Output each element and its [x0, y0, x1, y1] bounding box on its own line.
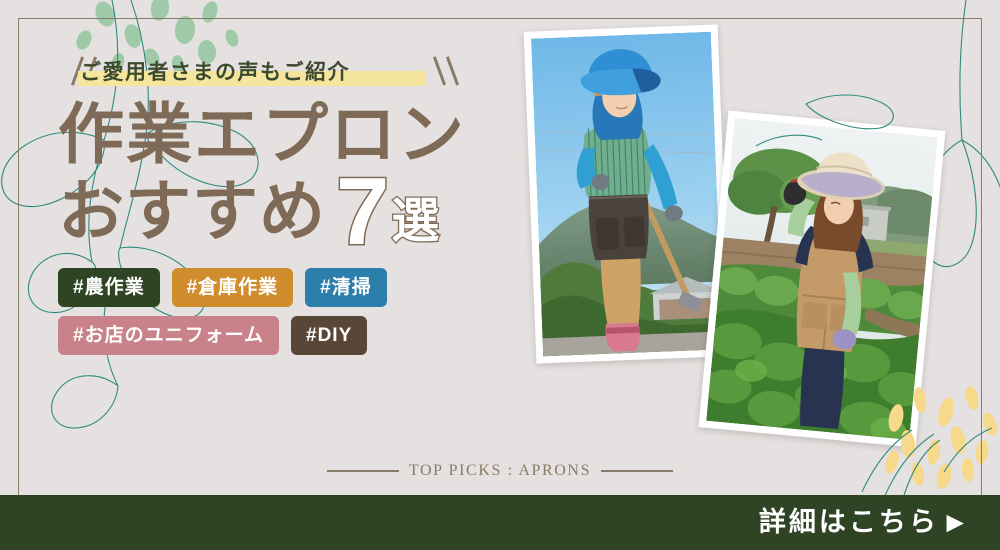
eyebrow-text: ご愛用者さまの声もご紹介	[80, 62, 350, 83]
tag-souko[interactable]: #倉庫作業	[172, 268, 294, 307]
cta-label-text: 詳細はこちら	[759, 509, 939, 536]
headline-line-2: おすすめ 7 選	[58, 173, 528, 246]
slash-right-2-icon	[446, 56, 459, 85]
farmer-in-field-photo	[699, 110, 946, 447]
caption-rule-left	[327, 470, 399, 472]
slash-right-1-icon	[433, 56, 446, 85]
headline-number: 7	[336, 173, 389, 252]
caption-text: TOP PICKS : APRONS	[399, 462, 601, 480]
caption-row: TOP PICKS : APRONS	[0, 462, 1000, 480]
tag-diy[interactable]: #DIY	[291, 316, 367, 355]
cta-bar[interactable]: 詳細はこちら ▶	[0, 495, 1000, 550]
promo-banner: ご愛用者さまの声もご紹介 作業エプロン おすすめ 7 選 #農作業 #倉庫作業 …	[0, 0, 1000, 550]
farmer-with-hoe-photo	[524, 24, 731, 363]
eyebrow-row: ご愛用者さまの声もご紹介	[58, 52, 528, 92]
tag-seisou[interactable]: #清掃	[305, 268, 387, 307]
tag-list: #農作業 #倉庫作業 #清掃 #お店のユニフォーム #DIY	[58, 268, 488, 355]
headline-suffix: 選	[391, 198, 439, 246]
tag-uniform[interactable]: #お店のユニフォーム	[58, 316, 279, 355]
play-arrow-icon: ▶	[947, 512, 966, 533]
cta-button[interactable]: 詳細はこちら ▶	[759, 509, 966, 536]
headline-line-2-prefix: おすすめ	[58, 177, 326, 246]
tag-nogyo[interactable]: #農作業	[58, 268, 160, 307]
text-content-column: ご愛用者さまの声もご紹介 作業エプロン おすすめ 7 選 #農作業 #倉庫作業 …	[58, 52, 528, 355]
headline-line-1: 作業エプロン	[58, 100, 528, 169]
caption-rule-right	[601, 470, 673, 472]
